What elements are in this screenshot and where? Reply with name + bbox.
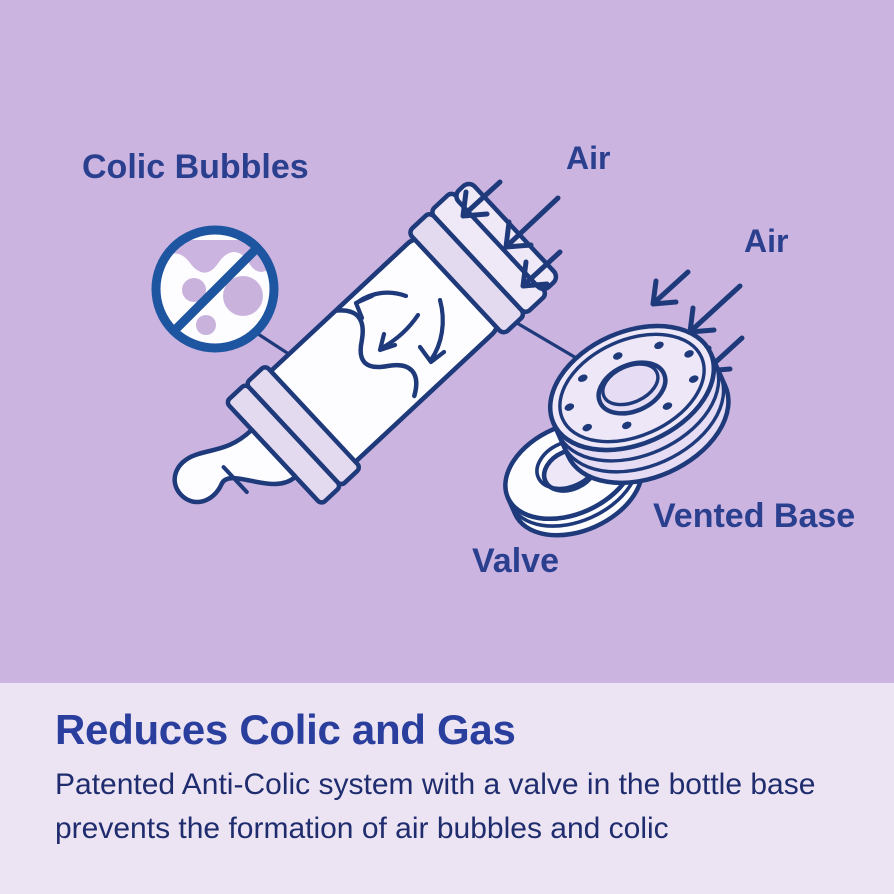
page-title: Reduces Colic and Gas (55, 705, 875, 755)
label-air-right: Air (744, 223, 788, 259)
label-vented-base: Vented Base (653, 497, 855, 535)
illustration-panel: Colic Bubbles Air Air Vented Base Valve (0, 0, 894, 683)
no-bubbles-icon (156, 230, 274, 348)
air-arrow-right-1 (653, 272, 688, 304)
label-air-top: Air (566, 140, 610, 176)
label-valve: Valve (472, 542, 559, 580)
label-colic-bubbles: Colic Bubbles (82, 148, 309, 186)
caption-panel: Reduces Colic and Gas Patented Anti-Coli… (0, 683, 894, 894)
product-feature-graphic: Colic Bubbles Air Air Vented Base Valve … (0, 0, 894, 894)
air-arrow-top-2 (506, 198, 558, 247)
caption-body-text: Patented Anti-Colic system with a valve … (55, 763, 855, 851)
bubble (196, 315, 216, 335)
anti-colic-diagram: Colic Bubbles Air Air Vented Base Valve (0, 0, 894, 683)
caption-inner: Reduces Colic and Gas Patented Anti-Coli… (55, 705, 875, 851)
air-arrow-right-2 (690, 286, 740, 332)
